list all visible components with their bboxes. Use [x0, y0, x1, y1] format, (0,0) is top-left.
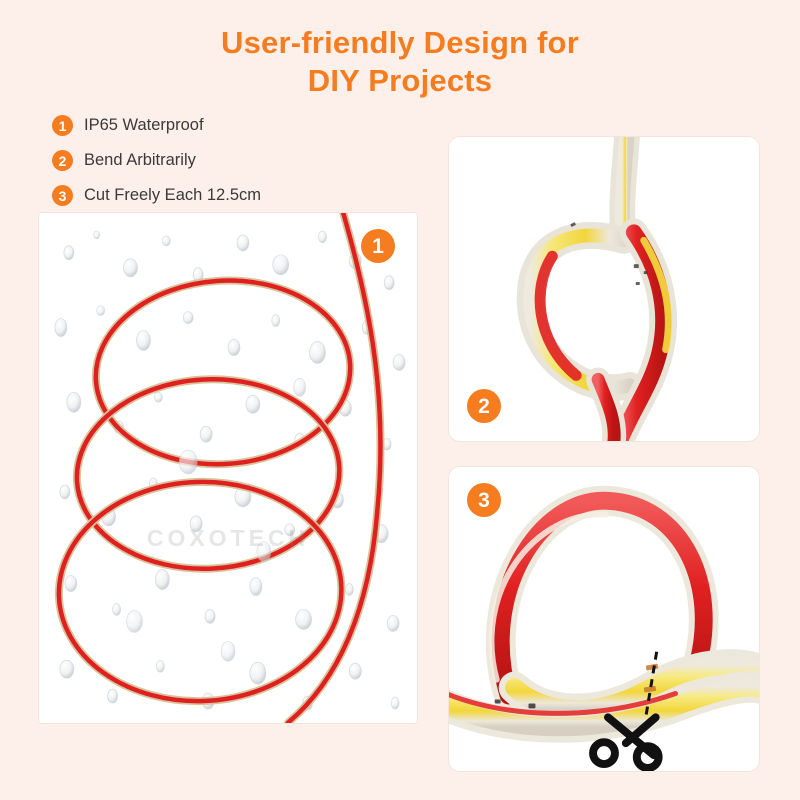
feature-number-badge: 3	[52, 185, 73, 206]
panel-bend: 2	[448, 136, 760, 442]
feature-number-badge: 2	[52, 150, 73, 171]
page-title: User-friendly Design for DIY Projects	[0, 24, 800, 100]
feature-number-badge: 1	[52, 115, 73, 136]
panel-badge-3: 3	[467, 483, 501, 517]
feature-list: 1 IP65 Waterproof 2 Bend Arbitrarily 3 C…	[52, 110, 392, 215]
feature-label: Bend Arbitrarily	[84, 151, 196, 170]
list-item: 2 Bend Arbitrarily	[52, 145, 392, 176]
title-line-1: User-friendly Design for	[0, 24, 800, 62]
panel-badge-1: 1	[361, 229, 395, 263]
waterproof-photo	[39, 213, 417, 723]
panel-cut: 3	[448, 466, 760, 772]
feature-label: Cut Freely Each 12.5cm	[84, 186, 261, 205]
panel-waterproof: COXOTECH 1	[38, 212, 418, 724]
panel-badge-2: 2	[467, 389, 501, 423]
feature-label: IP65 Waterproof	[84, 116, 204, 135]
title-line-2: DIY Projects	[0, 62, 800, 100]
list-item: 3 Cut Freely Each 12.5cm	[52, 180, 392, 211]
list-item: 1 IP65 Waterproof	[52, 110, 392, 141]
cut-photo	[449, 467, 759, 771]
